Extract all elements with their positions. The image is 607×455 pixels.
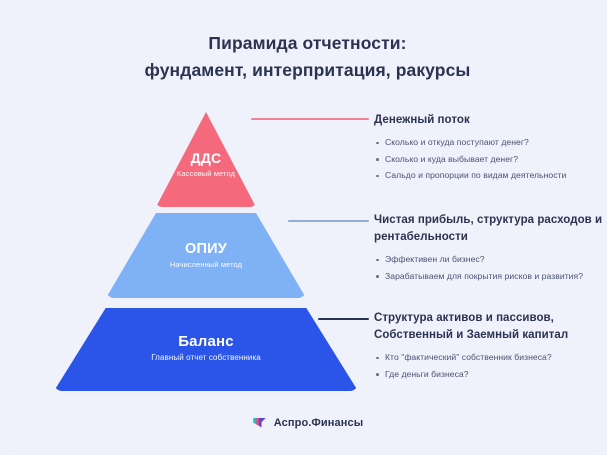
description-block-assets: Структура активов и пассивов, Собственны… xyxy=(374,310,603,384)
description-block-assets-heading: Структура активов и пассивов, Собственны… xyxy=(374,310,603,344)
pyramid-level-opiu-title: ОПИУ xyxy=(185,241,227,257)
pyramid-diagram: ДДС Кассовый метод ОПИУ Начисленный мето… xyxy=(4,4,364,451)
list-item: Сколько и куда выбывает денег? xyxy=(374,153,603,166)
description-block-profit: Чистая прибыль, структура расходов и рен… xyxy=(374,212,603,286)
footer-brand: Аспро.Финансы xyxy=(4,415,603,430)
pyramid-level-dds-title: ДДС xyxy=(191,150,222,166)
pyramid-level-opiu-subtitle: Начисленный метод xyxy=(170,259,242,271)
pyramid-level-opiu: ОПИУ Начисленный метод xyxy=(106,213,306,298)
aspro-logo-icon xyxy=(252,415,267,430)
description-blocks: Денежный поток Сколько и откуда поступаю… xyxy=(374,4,603,451)
list-item: Сальдо и пропорции по видам деятельности xyxy=(374,169,603,182)
brand-name: Аспро.Финансы xyxy=(274,417,363,429)
pyramid-level-balance: Баланс Главный отчет собственника xyxy=(54,308,358,391)
connector-line-dds xyxy=(251,118,369,120)
connector-line-opiu xyxy=(288,220,369,222)
description-block-assets-list: Кто "фактический" собственник бизнеса? Г… xyxy=(374,351,603,381)
infographic-card: Пирамида отчетности: фундамент, интерпри… xyxy=(4,4,603,451)
description-block-cash-flow-heading: Денежный поток xyxy=(374,112,603,129)
connector-line-balance xyxy=(318,318,369,320)
pyramid-level-dds: ДДС Кассовый метод xyxy=(156,112,256,207)
list-item: Эффективен ли бизнес? xyxy=(374,253,603,266)
list-item: Зарабатываем для покрытия рисков и разви… xyxy=(374,270,603,283)
description-block-profit-heading: Чистая прибыль, структура расходов и рен… xyxy=(374,212,603,246)
list-item: Сколько и откуда поступают денег? xyxy=(374,136,603,149)
pyramid-level-balance-subtitle: Главный отчет собственника xyxy=(151,352,261,364)
description-block-profit-list: Эффективен ли бизнес? Зарабатываем для п… xyxy=(374,253,603,283)
pyramid-level-balance-title: Баланс xyxy=(178,334,234,350)
list-item: Кто "фактический" собственник бизнеса? xyxy=(374,351,603,364)
description-block-cash-flow: Денежный поток Сколько и откуда поступаю… xyxy=(374,112,603,186)
description-block-cash-flow-list: Сколько и откуда поступают денег? Скольк… xyxy=(374,136,603,182)
list-item: Где деньги бизнеса? xyxy=(374,368,603,381)
pyramid-level-dds-subtitle: Кассовый метод xyxy=(177,168,235,180)
